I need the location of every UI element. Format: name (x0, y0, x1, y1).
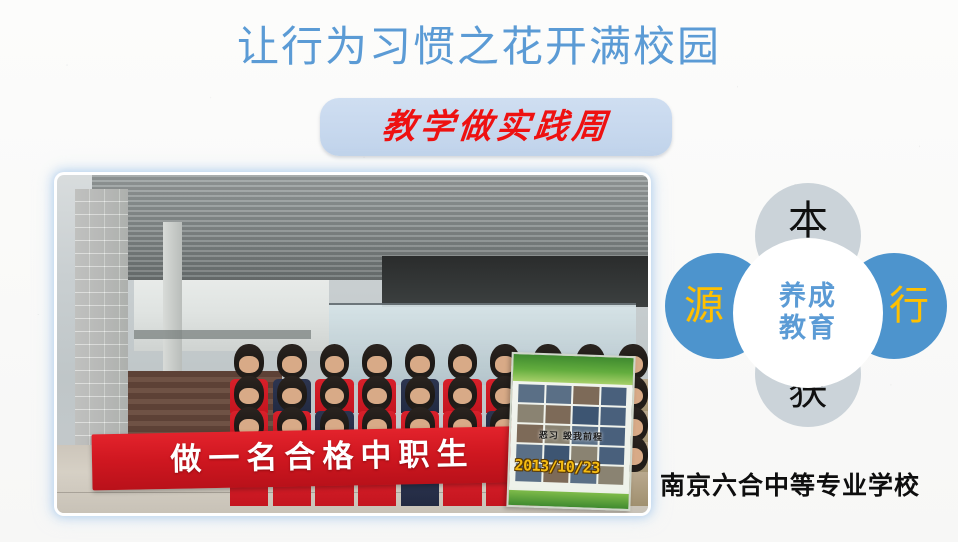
poster-thumbnail (600, 407, 626, 426)
photo-student-head (362, 376, 392, 411)
photo-student-head (405, 344, 435, 379)
school-name: 南京六合中等专业学校 (660, 466, 920, 502)
petal-center-line2: 教育 (779, 313, 837, 345)
photo-handrail (134, 330, 311, 338)
poster-thumbnail (599, 447, 625, 466)
petal-center[interactable]: 养成 教育 (733, 238, 883, 388)
photo-red-banner: 做一名合格中职生 (92, 426, 554, 491)
poster-thumbnail (601, 387, 627, 406)
group-photo: 做一名合格中职生 (57, 175, 648, 513)
page-title: 让行为习惯之花开满校园 (0, 20, 958, 74)
photo-student-head (448, 344, 478, 379)
photo-student-head (362, 344, 392, 379)
photo-poster-board: 恶习 毁我前程 2013/10/23 (506, 352, 635, 512)
photo-student-head (320, 376, 350, 411)
photo-student-head (405, 376, 435, 411)
photo-ceiling-shadow (382, 256, 648, 307)
photo-date-stamp: 2013/10/23 (514, 456, 600, 477)
poster-thumbnail (546, 386, 572, 405)
photo-tiled-column (75, 189, 128, 473)
presentation-slide: 让行为习惯之花开满校园 教学做实践周 (0, 0, 958, 542)
photo-student-head (234, 376, 264, 411)
petal-center-line1: 养成 (779, 281, 837, 313)
photo-student-head (320, 344, 350, 379)
poster-thumbnail (573, 386, 599, 405)
photo-banner-text: 做一名合格中职生 (171, 440, 476, 477)
poster-thumbnail (517, 404, 543, 423)
poster-thumbnail (545, 405, 571, 424)
poster-thumbnail (518, 385, 544, 404)
subtitle-badge: 教学做实践周 (320, 98, 672, 156)
subtitle-label: 教学做实践周 (380, 110, 612, 144)
poster-footer-band (509, 490, 630, 509)
photo-student-head (277, 344, 307, 379)
photo-frame: 做一名合格中职生 (57, 175, 648, 513)
photo-student-head (234, 344, 264, 379)
poster-thumbnail (598, 467, 624, 486)
poster-thumbnail (572, 406, 598, 425)
photo-student-head (277, 376, 307, 411)
photo-student-head (448, 376, 478, 411)
poster-header-band (513, 354, 634, 385)
petal-diagram: 本 获 源 行 养成 教育 (665, 183, 947, 428)
